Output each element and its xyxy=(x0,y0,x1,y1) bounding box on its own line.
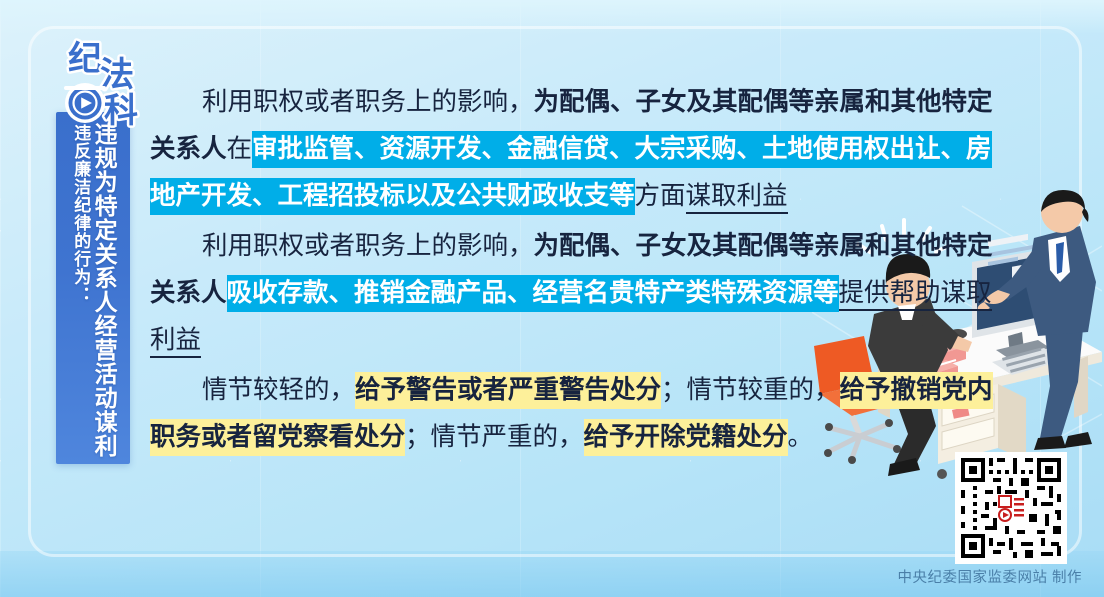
qr-code-graphic[interactable] xyxy=(955,452,1067,564)
run-cyan-highlight: 吸收存款、推销金融产品、经营名贵特产类特殊资源等 xyxy=(227,275,839,312)
run-cyan-highlight: 审批监管、资源开发、金融信贷、大宗采购、土地使用权出让、房地产开发、工程招投标以… xyxy=(150,131,992,215)
run-underline: 谋取利益 xyxy=(686,181,788,214)
article-body: 利用职权或者职务上的影响，为配偶、子女及其配偶等亲属和其他特定关系人在审批监管、… xyxy=(150,78,1002,463)
run-plain: 。 xyxy=(788,422,814,451)
svg-text:纪: 纪 xyxy=(68,40,102,78)
svg-text:科: 科 xyxy=(104,92,138,128)
qr-code[interactable] xyxy=(955,452,1067,564)
brand-logo-graphic: 纪 纪 法 法 科 科 xyxy=(52,32,164,128)
vertical-title-banner: 违规为特定关系人经营活动谋利 违反廉洁纪律的行为： xyxy=(56,112,130,464)
logo-underscore xyxy=(64,86,106,90)
footer-credit: 中央纪委国家监委网站 制作 xyxy=(897,566,1082,587)
run-plain: 情节较轻的， xyxy=(202,375,355,404)
run-plain: ；情节较重的， xyxy=(661,375,840,404)
run-plain: 利用职权或者职务上的影响， xyxy=(202,231,534,260)
brand-logo: 纪 纪 法 法 科 科 xyxy=(52,32,164,128)
paragraph-3: 情节较轻的，给予警告或者严重警告处分；情节较重的，给予撤销党内职务或者留党察看处… xyxy=(150,366,1002,460)
run-yellow-highlight: 给予警告或者严重警告处分 xyxy=(355,372,661,409)
run-plain: 利用职权或者职务上的影响， xyxy=(202,87,534,116)
run-plain: 方面 xyxy=(635,181,686,210)
run-yellow-highlight: 给予开除党籍处分 xyxy=(584,419,788,456)
paragraph-1: 利用职权或者职务上的影响，为配偶、子女及其配偶等亲属和其他特定关系人在审批监管、… xyxy=(150,78,1002,219)
paragraph-2: 利用职权或者职务上的影响，为配偶、子女及其配偶等亲属和其他特定关系人吸收存款、推… xyxy=(150,222,1002,363)
background-top-sheen xyxy=(0,0,1104,34)
run-plain: ；情节严重的， xyxy=(405,422,584,451)
run-plain: 在 xyxy=(227,134,253,163)
banner-category: 违反廉洁纪律的行为： xyxy=(71,122,89,304)
banner-title: 违规为特定关系人经营活动谋利 xyxy=(91,122,115,458)
